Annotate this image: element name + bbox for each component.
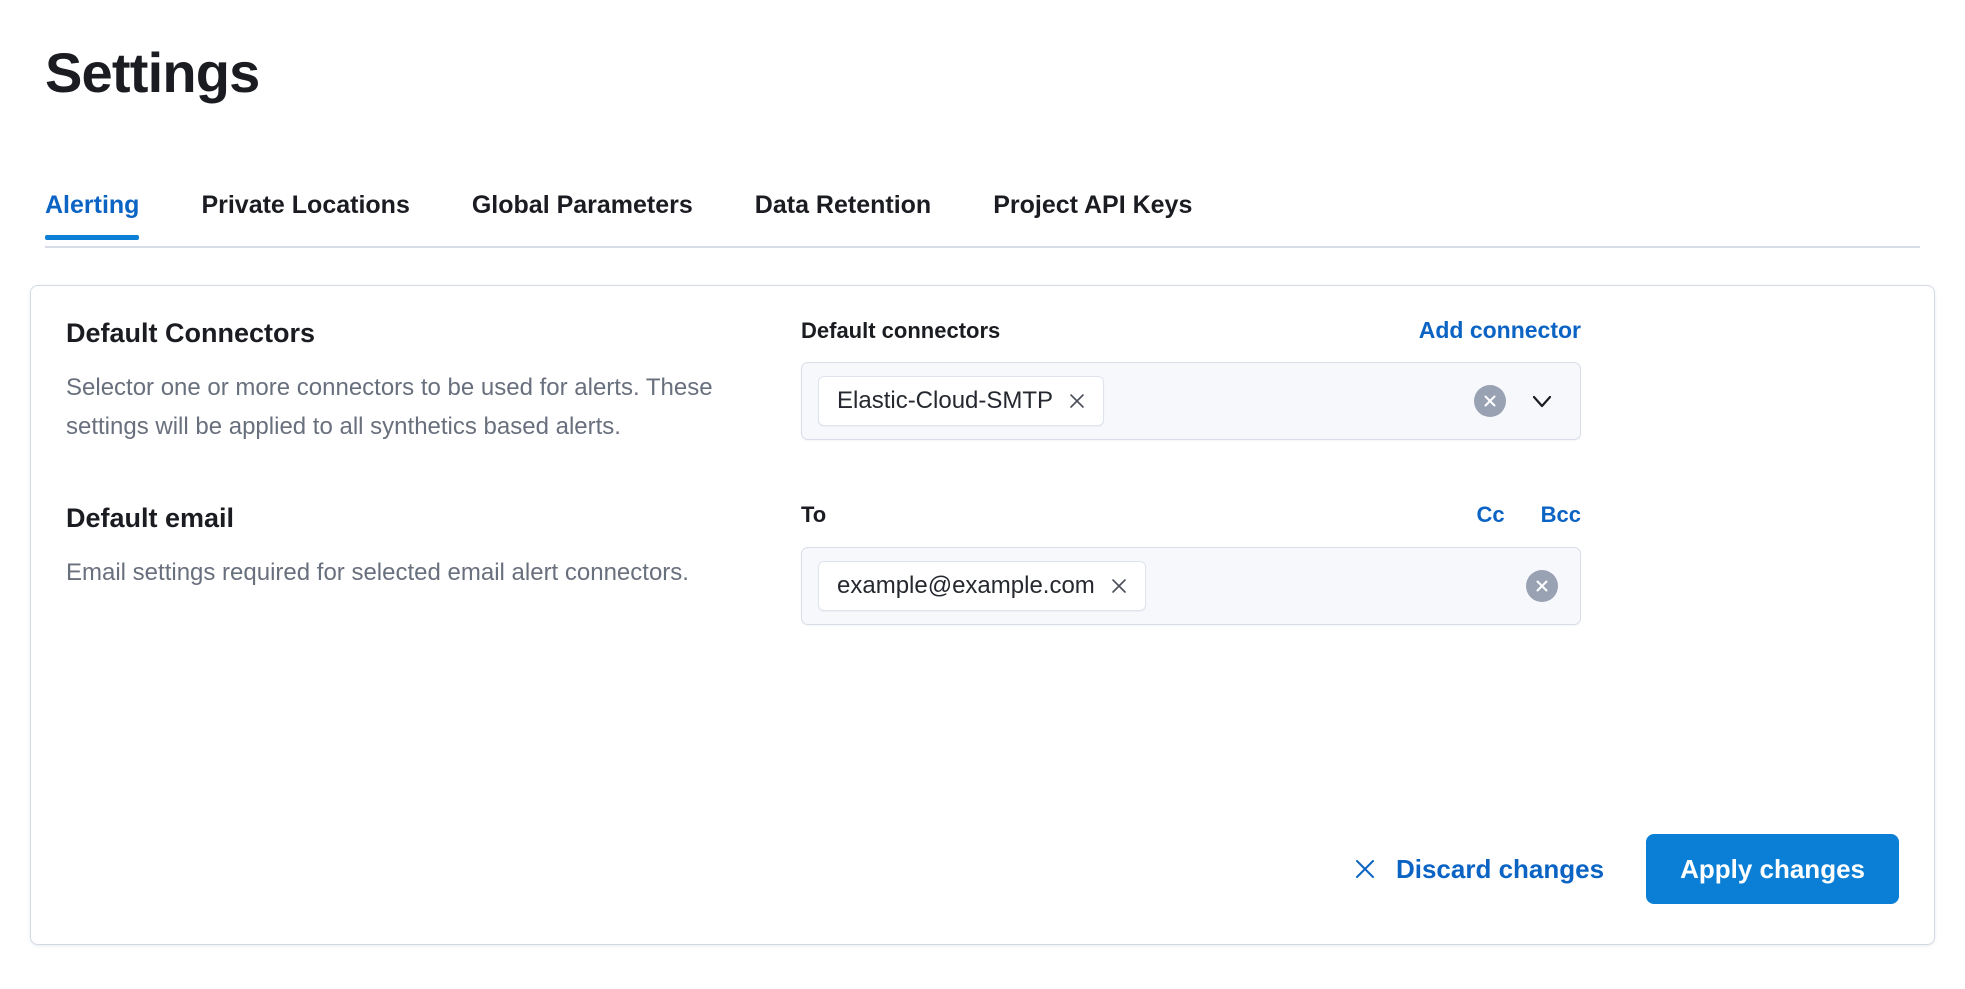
bcc-link[interactable]: Bcc <box>1541 501 1581 529</box>
clear-emails-button[interactable] <box>1526 570 1558 602</box>
connectors-field-header: Default connectors Add connector <box>801 316 1581 346</box>
to-email-combobox[interactable]: example@example.com <box>801 547 1581 625</box>
email-pill[interactable]: example@example.com <box>818 561 1146 611</box>
email-title: Default email <box>66 501 801 535</box>
remove-connector-icon[interactable] <box>1067 391 1087 411</box>
connectors-field-label: Default connectors <box>801 317 1000 345</box>
discard-changes-label: Discard changes <box>1396 853 1604 885</box>
apply-changes-button[interactable]: Apply changes <box>1646 834 1899 904</box>
email-field-header: To Cc Bcc <box>801 501 1581 531</box>
email-pill-label: example@example.com <box>837 571 1095 601</box>
close-icon <box>1352 856 1378 882</box>
discard-changes-button[interactable]: Discard changes <box>1340 843 1616 895</box>
alerting-settings-card: Default Connectors Selector one or more … <box>30 285 1935 945</box>
connectors-field-actions: Add connector <box>1419 316 1581 344</box>
default-connectors-combobox[interactable]: Elastic-Cloud-SMTP <box>801 362 1581 440</box>
tab-global-parameters[interactable]: Global Parameters <box>472 190 693 238</box>
tab-data-retention[interactable]: Data Retention <box>755 190 931 238</box>
section-default-email: Default email Email settings required fo… <box>31 501 1581 625</box>
section-default-connectors: Default Connectors Selector one or more … <box>31 316 1581 446</box>
settings-page: Settings Alerting Private Locations Glob… <box>0 0 1965 989</box>
tab-private-locations[interactable]: Private Locations <box>201 190 409 238</box>
connectors-description-column: Default Connectors Selector one or more … <box>31 316 801 446</box>
connector-pill-label: Elastic-Cloud-SMTP <box>837 386 1053 416</box>
connectors-description: Selector one or more connectors to be us… <box>66 368 796 446</box>
chevron-down-icon[interactable] <box>1524 383 1560 419</box>
email-description: Email settings required for selected ema… <box>66 553 796 592</box>
remove-email-icon[interactable] <box>1109 576 1129 596</box>
settings-tabs: Alerting Private Locations Global Parame… <box>45 190 1920 248</box>
email-description-column: Default email Email settings required fo… <box>31 501 801 625</box>
card-footer-actions: Discard changes Apply changes <box>1340 834 1899 904</box>
tab-project-api-keys[interactable]: Project API Keys <box>993 190 1192 238</box>
connector-pill[interactable]: Elastic-Cloud-SMTP <box>818 376 1104 426</box>
add-connector-link[interactable]: Add connector <box>1419 316 1581 344</box>
email-field-actions: Cc Bcc <box>1477 501 1581 529</box>
cc-link[interactable]: Cc <box>1477 501 1505 529</box>
page-title: Settings <box>45 40 260 106</box>
connectors-field-column: Default connectors Add connector Elastic… <box>801 316 1581 446</box>
email-field-column: To Cc Bcc example@example.com <box>801 501 1581 625</box>
tab-alerting[interactable]: Alerting <box>45 190 139 238</box>
connectors-title: Default Connectors <box>66 316 801 350</box>
clear-connectors-button[interactable] <box>1474 385 1506 417</box>
to-field-label: To <box>801 501 826 529</box>
